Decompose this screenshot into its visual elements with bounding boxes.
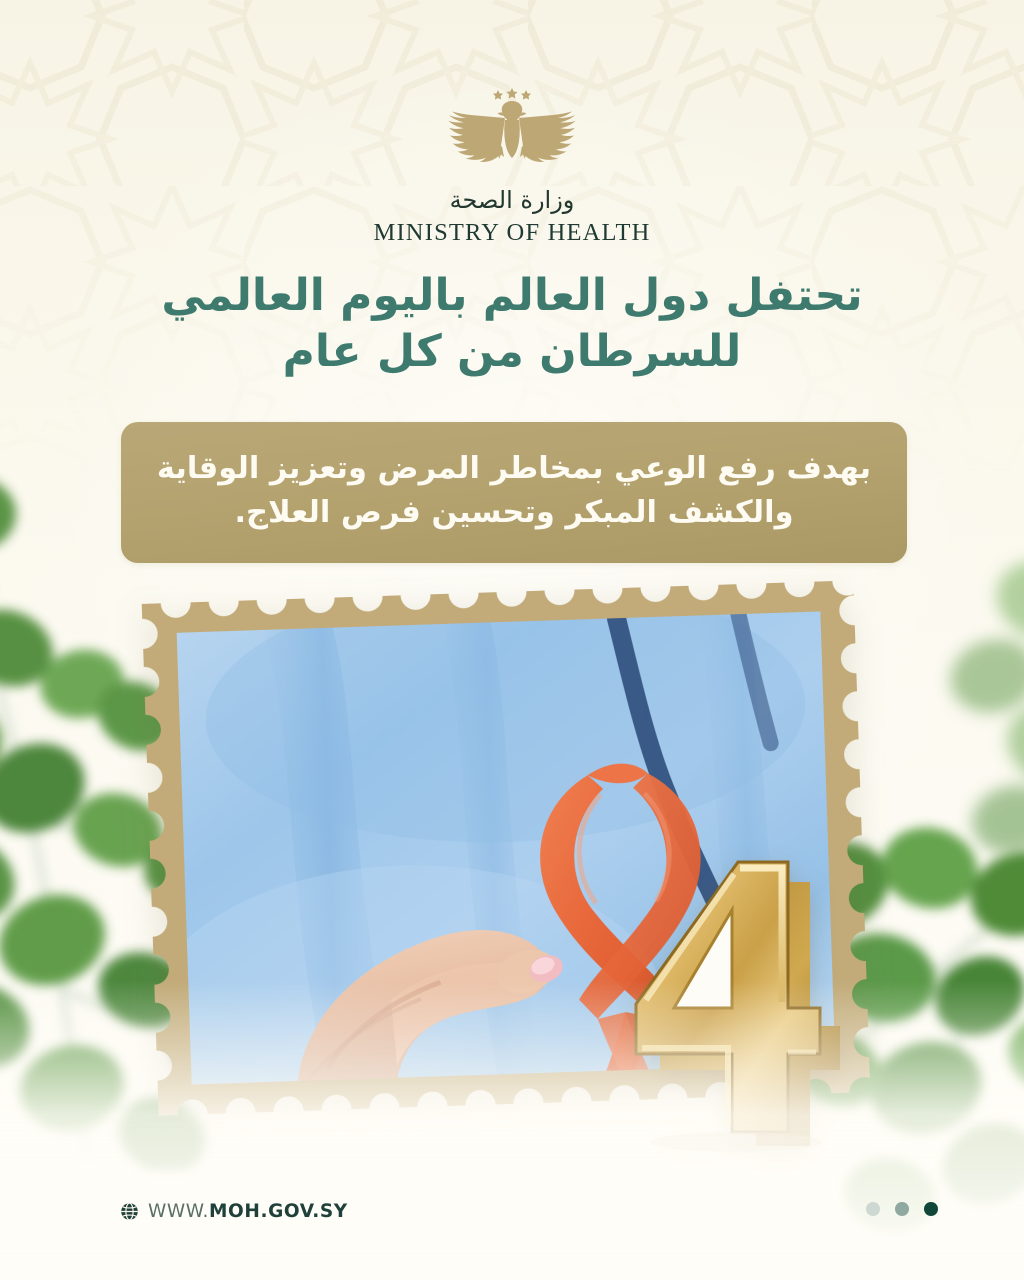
- ministry-name-english: MINISTRY OF HEALTH: [373, 221, 650, 246]
- website-link[interactable]: WWW.MOH.GOV.SY: [120, 1196, 348, 1226]
- subtitle-banner: بهدف رفع الوعي بمخاطر المرض وتعزيز الوقا…: [121, 422, 907, 563]
- website-url: WWW.MOH.GOV.SY: [148, 1201, 348, 1222]
- footer-bar: WWW.MOH.GOV.SY: [0, 1196, 1024, 1236]
- website-url-main: MOH.GOV.SY: [209, 1201, 348, 1222]
- ministry-name-arabic: وزارة الصحة: [450, 188, 575, 212]
- pagination-dot-2[interactable]: [895, 1202, 909, 1216]
- website-url-prefix: WWW.: [148, 1201, 209, 1222]
- pagination-dot-3-active[interactable]: [924, 1202, 938, 1216]
- eagle-emblem-icon: [446, 88, 578, 174]
- globe-icon: [120, 1202, 139, 1221]
- page-headline: تحتفل دول العالم باليوم العالمي للسرطان …: [150, 268, 874, 381]
- pagination-dot-1[interactable]: [866, 1202, 880, 1216]
- gold-numeral-four: [628, 852, 860, 1152]
- carousel-pagination[interactable]: [866, 1202, 938, 1216]
- subtitle-banner-text: بهدف رفع الوعي بمخاطر المرض وتعزيز الوقا…: [155, 447, 873, 534]
- poster-canvas: وزارة الصحة MINISTRY OF HEALTH تحتفل دول…: [0, 0, 1024, 1280]
- ministry-branding: وزارة الصحة MINISTRY OF HEALTH: [0, 88, 1024, 246]
